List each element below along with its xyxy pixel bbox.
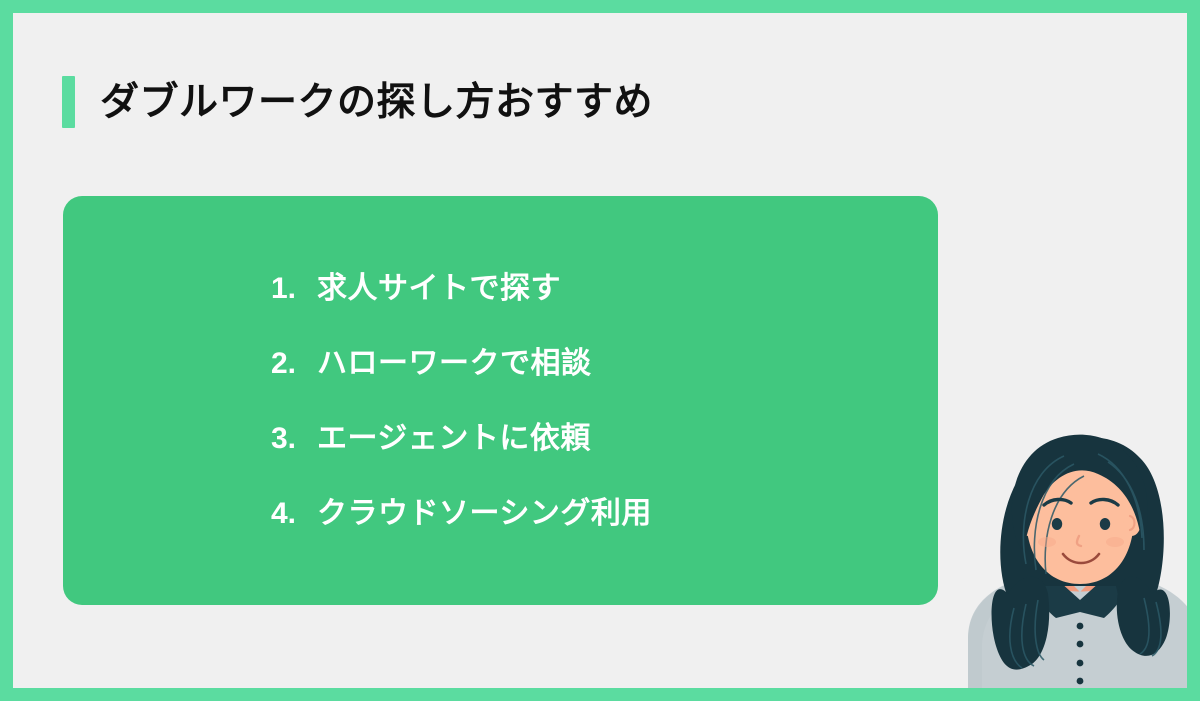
list-item: 4. クラウドソーシング利用 — [63, 476, 938, 551]
eye-right — [1100, 518, 1110, 530]
page-title-block: ダブルワークの探し方おすすめ — [62, 76, 653, 128]
list-item: 2. ハローワークで相談 — [63, 326, 938, 401]
list-item: 1. 求人サイトで探す — [63, 251, 938, 326]
slide-root: ダブルワークの探し方おすすめ 1. 求人サイトで探す 2. ハローワークで相談 … — [0, 0, 1200, 701]
eye-left — [1052, 518, 1062, 530]
list-item-label: クラウドソーシング利用 — [317, 476, 652, 551]
list-card: 1. 求人サイトで探す 2. ハローワークで相談 3. エージェントに依頼 4.… — [63, 196, 938, 605]
blouse-button — [1077, 660, 1084, 667]
cheek-left — [1038, 537, 1056, 547]
list-item: 3. エージェントに依頼 — [63, 401, 938, 476]
list-item-number: 4. — [271, 476, 317, 551]
cheek-right — [1106, 537, 1124, 547]
blouse-button — [1077, 641, 1084, 648]
slide-canvas: ダブルワークの探し方おすすめ 1. 求人サイトで探す 2. ハローワークで相談 … — [13, 13, 1187, 688]
list-item-label: エージェントに依頼 — [317, 401, 591, 476]
page-title: ダブルワークの探し方おすすめ — [100, 83, 653, 122]
blouse-button — [1077, 678, 1084, 685]
list-item-number: 3. — [271, 401, 317, 476]
title-accent-bar — [62, 76, 75, 128]
list-item-label: ハローワークで相談 — [317, 326, 592, 401]
blouse-button — [1077, 623, 1084, 630]
woman-portrait-illustration — [948, 388, 1187, 688]
list-item-number: 1. — [271, 251, 317, 326]
steps-list: 1. 求人サイトで探す 2. ハローワークで相談 3. エージェントに依頼 4.… — [63, 196, 938, 605]
list-item-number: 2. — [271, 326, 317, 401]
list-item-label: 求人サイトで探す — [317, 251, 561, 326]
